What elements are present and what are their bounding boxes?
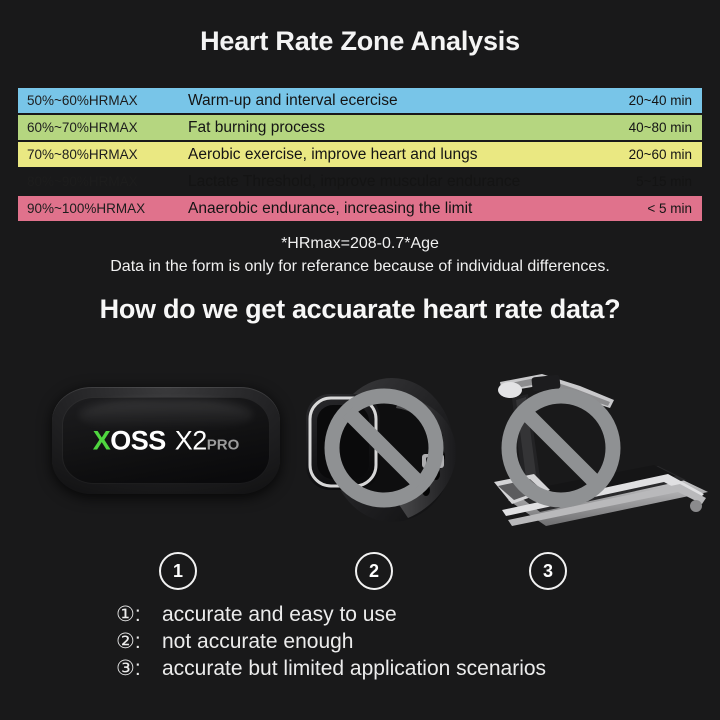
table-row: 70%~80%HRMAX Aerobic exercise, improve h… xyxy=(18,142,702,167)
legend-key-3: ③: xyxy=(116,655,162,682)
prohibition-icon xyxy=(300,360,480,540)
zone-duration: 20~40 min xyxy=(629,93,702,108)
smartwatch-image xyxy=(300,360,480,540)
disclaimer-text: Data in the form is only for referance b… xyxy=(0,255,720,279)
legend-text-1: accurate and easy to use xyxy=(162,601,397,628)
xoss-logo: XOSSX2PRO xyxy=(62,427,270,454)
legend-key-1: ①: xyxy=(116,601,162,628)
infographic-page: Heart Rate Zone Analysis 50%~60%HRMAX Wa… xyxy=(0,0,720,720)
table-row: 80%~90%HRMAX Lactate Threshold, improve … xyxy=(18,169,702,194)
product-comparison-row: XOSSX2PRO xyxy=(0,350,720,560)
zone-duration: 20~60 min xyxy=(629,147,702,162)
list-item: ③: accurate but limited application scen… xyxy=(116,655,716,682)
section-heading-question: How do we get accuarate heart rate data? xyxy=(0,294,720,325)
sensor-body: XOSSX2PRO xyxy=(62,397,270,484)
zone-intensity: 70%~80%HRMAX xyxy=(18,147,188,162)
legend-key-2: ②: xyxy=(116,628,162,655)
zone-description: Fat burning process xyxy=(188,119,629,137)
zone-intensity: 60%~70%HRMAX xyxy=(18,120,188,135)
logo-model-x2: X2 xyxy=(175,425,207,455)
legend-list: ①: accurate and easy to use ②: not accur… xyxy=(116,601,716,682)
legend-text-2: not accurate enough xyxy=(162,628,353,655)
table-row: 50%~60%HRMAX Warm-up and interval ecerci… xyxy=(18,88,702,113)
zone-intensity: 90%~100%HRMAX xyxy=(18,201,188,216)
logo-letter-x: X xyxy=(93,425,111,455)
prohibition-icon xyxy=(472,360,712,545)
treadmill-image xyxy=(472,360,712,545)
zone-intensity: 80%~90%HRMAX xyxy=(18,174,188,189)
notes-block: *HRmax=208-0.7*Age Data in the form is o… xyxy=(0,233,720,279)
marker-2: 2 xyxy=(355,552,393,590)
logo-suffix-pro: PRO xyxy=(207,436,240,453)
xoss-chest-strap-sensor: XOSSX2PRO xyxy=(52,387,280,494)
zone-duration: 40~80 min xyxy=(629,120,702,135)
zone-description: Warm-up and interval ecercise xyxy=(188,92,629,110)
legend-text-3: accurate but limited application scenari… xyxy=(162,655,546,682)
hrmax-formula: *HRmax=208-0.7*Age xyxy=(0,233,720,255)
list-item: ①: accurate and easy to use xyxy=(116,601,716,628)
page-title: Heart Rate Zone Analysis xyxy=(0,26,720,57)
list-item: ②: not accurate enough xyxy=(116,628,716,655)
logo-text-oss: OSS xyxy=(110,425,166,455)
table-row: 90%~100%HRMAX Anaerobic endurance, incre… xyxy=(18,196,702,221)
zone-description: Aerobic exercise, improve heart and lung… xyxy=(188,146,629,164)
zone-description: Anaerobic endurance, increasing the limi… xyxy=(188,200,647,218)
table-row: 60%~70%HRMAX Fat burning process 40~80 m… xyxy=(18,115,702,140)
heart-rate-zone-table: 50%~60%HRMAX Warm-up and interval ecerci… xyxy=(18,88,702,221)
zone-duration: < 5 min xyxy=(647,201,702,216)
marker-3: 3 xyxy=(529,552,567,590)
marker-1: 1 xyxy=(159,552,197,590)
zone-intensity: 50%~60%HRMAX xyxy=(18,93,188,108)
zone-description: Lactate Threshold, improve muscular endu… xyxy=(188,173,636,191)
zone-duration: 5~15 min xyxy=(636,174,702,189)
product-number-markers: 1 2 3 xyxy=(0,552,720,592)
